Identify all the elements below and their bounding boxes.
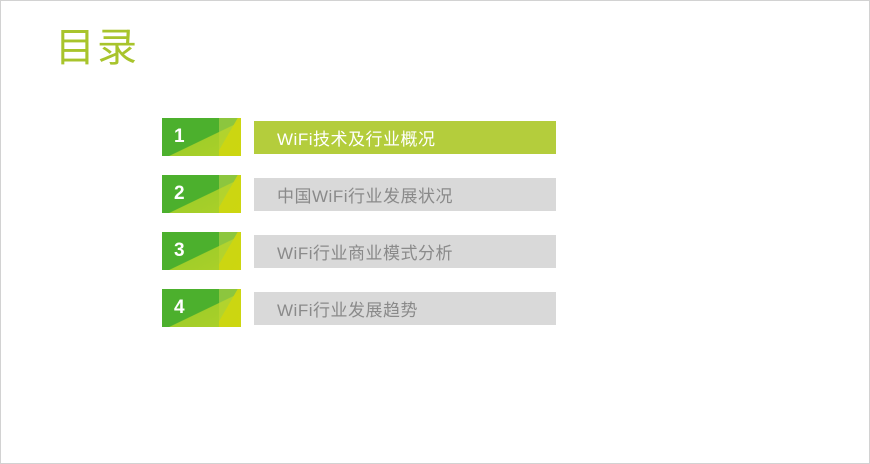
toc-number-label: 4 xyxy=(174,289,185,327)
toc-number-label: 2 xyxy=(174,175,185,213)
toc-bar-1[interactable]: WiFi技术及行业概况 xyxy=(254,121,556,154)
tile-diagonal-band-right xyxy=(219,175,241,213)
toc-number-tile-1: 1 xyxy=(162,118,241,156)
toc-item-label: WiFi行业商业模式分析 xyxy=(254,239,453,264)
tile-diagonal-band-right xyxy=(219,118,241,156)
toc-item-3[interactable]: 3 WiFi行业商业模式分析 xyxy=(162,232,582,270)
toc-bar-2[interactable]: 中国WiFi行业发展状况 xyxy=(254,178,556,211)
table-of-contents-list: 1 WiFi技术及行业概况 2 中国WiFi行业发展状况 xyxy=(162,118,582,346)
toc-item-1[interactable]: 1 WiFi技术及行业概况 xyxy=(162,118,582,156)
toc-item-label: 中国WiFi行业发展状况 xyxy=(254,182,453,207)
tile-diagonal-band-right xyxy=(219,289,241,327)
toc-number-tile-3: 3 xyxy=(162,232,241,270)
toc-bar-4[interactable]: WiFi行业发展趋势 xyxy=(254,292,556,325)
toc-number-label: 3 xyxy=(174,232,185,270)
toc-item-label: WiFi技术及行业概况 xyxy=(254,125,435,150)
toc-item-2[interactable]: 2 中国WiFi行业发展状况 xyxy=(162,175,582,213)
toc-number-label: 1 xyxy=(174,118,185,156)
toc-item-label: WiFi行业发展趋势 xyxy=(254,296,418,321)
toc-number-tile-4: 4 xyxy=(162,289,241,327)
toc-number-tile-2: 2 xyxy=(162,175,241,213)
toc-item-4[interactable]: 4 WiFi行业发展趋势 xyxy=(162,289,582,327)
toc-bar-3[interactable]: WiFi行业商业模式分析 xyxy=(254,235,556,268)
page-title: 目录 xyxy=(55,21,139,75)
presentation-slide: 目录 1 WiFi技术及行业概况 2 中 xyxy=(0,0,870,464)
tile-diagonal-band-right xyxy=(219,232,241,270)
